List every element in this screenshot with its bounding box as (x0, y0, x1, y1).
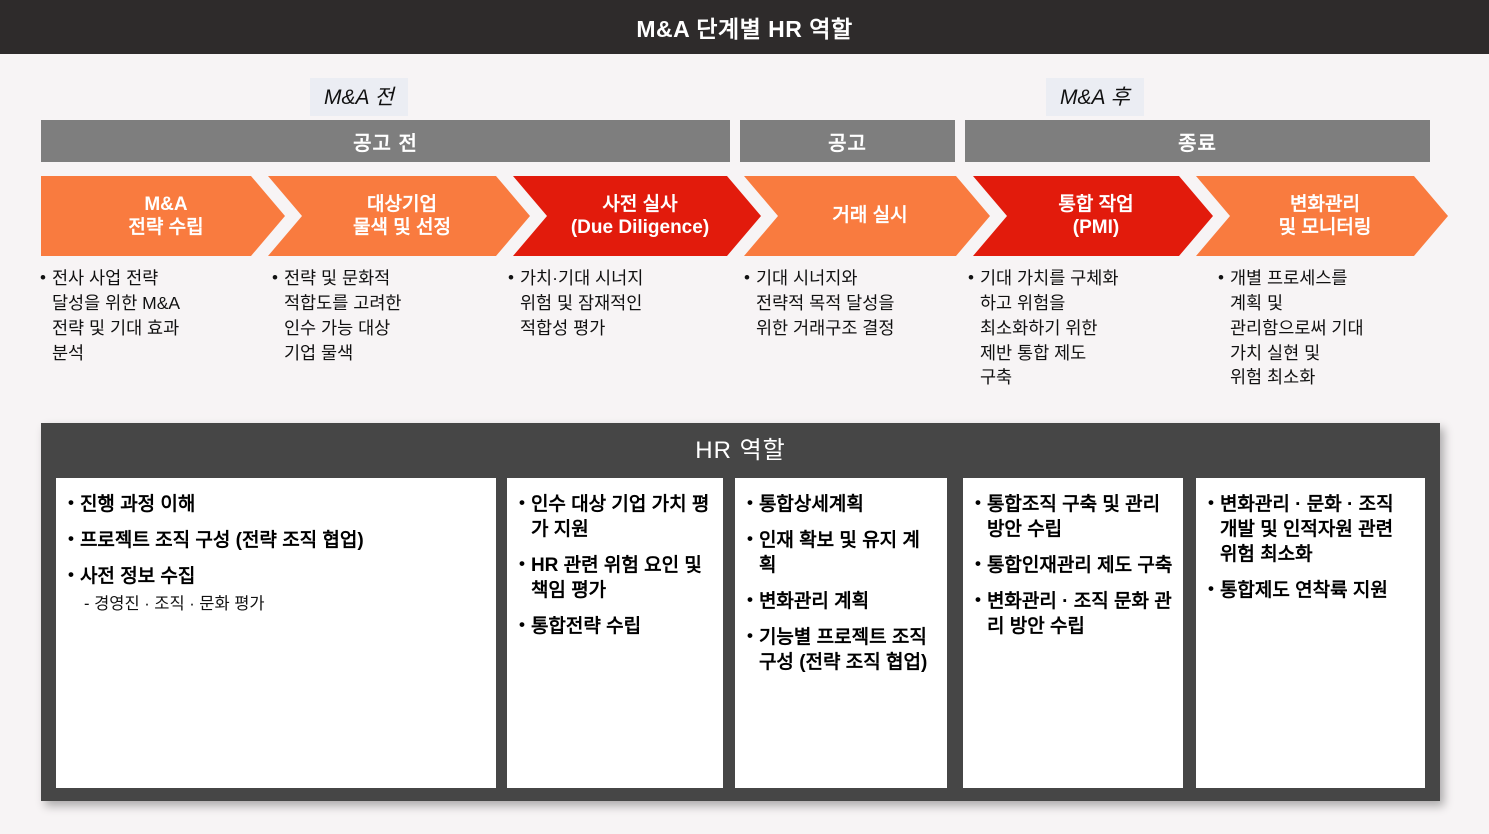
stage-description-1: •전략 및 문화적 적합도를 고려한 인수 가능 대상 기업 물색 (272, 266, 504, 365)
stage-chevron-label: 거래 실시 (826, 204, 907, 227)
stage-chevron-label: 대상기업 물색 및 선정 (347, 193, 451, 239)
hr-role-card-1: •인수 대상 기업 가치 평가 지원•HR 관련 위험 요인 및 책임 평가•통… (507, 478, 723, 788)
hr-role-item: •통합조직 구축 및 관리방안 수립 (975, 492, 1173, 542)
hr-role-item: •기능별 프로젝트 조직 구성 (전략 조직 협업) (747, 625, 937, 675)
hr-role-text: 인수 대상 기업 가치 평가 지원 (531, 492, 713, 542)
hr-role-text: 통합전략 수립 (531, 614, 713, 639)
bullet-dot-icon: • (975, 492, 981, 514)
hr-role-text: 통합상세계획 (759, 492, 937, 517)
bullet-dot-icon: • (68, 492, 74, 514)
stage-description-3: •기대 시너지와 전략적 목적 달성을 위한 거래구조 결정 (744, 266, 966, 341)
phase-bar-label: 공고 (828, 127, 867, 156)
hr-role-card-4: •변화관리 · 문화 · 조직 개발 및 인적자원 관련 위험 최소화•통합제도… (1196, 478, 1425, 788)
hr-role-card-0: •진행 과정 이해•프로젝트 조직 구성 (전략 조직 협업)•사전 정보 수집… (56, 478, 496, 788)
stage-chevron-3[interactable]: 거래 실시 (744, 176, 990, 256)
bullet-dot-icon: • (747, 528, 753, 550)
description-bullet: •기대 시너지와 전략적 목적 달성을 위한 거래구조 결정 (744, 266, 966, 341)
hr-role-subitem: - 경영진 · 조직 · 문화 평가 (84, 594, 486, 615)
hr-role-item: •진행 과정 이해 (68, 492, 486, 517)
bullet-dot-icon: • (968, 266, 974, 290)
stage-chevron-label: 사전 실사 (Due Diligence) (565, 193, 709, 239)
hr-role-text: 변화관리 계획 (759, 589, 937, 614)
hr-role-item: •인재 확보 및 유지 계획 (747, 528, 937, 578)
hr-role-text: 진행 과정 이해 (80, 492, 486, 517)
stage-chevron-1[interactable]: 대상기업 물색 및 선정 (268, 176, 530, 256)
hr-role-text: 프로젝트 조직 구성 (전략 조직 협업) (80, 528, 486, 553)
description-text: 가치·기대 시너지 위험 및 잠재적인 적합성 평가 (520, 266, 730, 341)
page-title: M&A 단계별 HR 역할 (636, 10, 852, 44)
hr-role-item: •통합제도 연착륙 지원 (1208, 578, 1415, 603)
hr-role-text: 기능별 프로젝트 조직 구성 (전략 조직 협업) (759, 625, 937, 675)
hr-role-text: 통합제도 연착륙 지원 (1220, 578, 1415, 603)
stage-description-2: •가치·기대 시너지 위험 및 잠재적인 적합성 평가 (508, 266, 730, 341)
description-bullet: •개별 프로세스를 계획 및 관리함으로써 기대 가치 실현 및 위험 최소화 (1218, 266, 1448, 390)
bullet-dot-icon: • (1208, 492, 1214, 514)
hr-role-item: •인수 대상 기업 가치 평가 지원 (519, 492, 713, 542)
stage-chevron-row: M&A 전략 수립대상기업 물색 및 선정사전 실사 (Due Diligenc… (0, 176, 1489, 256)
description-text: 기대 가치를 구체화 하고 위험을 최소화하기 위한 제반 통합 제도 구축 (980, 266, 1200, 390)
bullet-dot-icon: • (519, 553, 525, 575)
stage-chevron-label: M&A 전략 수립 (122, 193, 203, 239)
description-bullet: •전략 및 문화적 적합도를 고려한 인수 가능 대상 기업 물색 (272, 266, 504, 365)
stage-chevron-label: 통합 작업 (PMI) (1052, 193, 1133, 239)
bullet-dot-icon: • (68, 528, 74, 550)
hr-role-item: •사전 정보 수집 (68, 564, 486, 589)
hr-role-item: •통합전략 수립 (519, 614, 713, 639)
bullet-dot-icon: • (40, 266, 46, 290)
bullet-dot-icon: • (975, 589, 981, 611)
hr-role-text: 통합인재관리 제도 구축 (987, 553, 1173, 578)
stage-chevron-4[interactable]: 통합 작업 (PMI) (973, 176, 1213, 256)
phase-bar-0: 공고 전 (41, 120, 730, 162)
description-bullet: •기대 가치를 구체화 하고 위험을 최소화하기 위한 제반 통합 제도 구축 (968, 266, 1200, 390)
hr-role-card-3: •통합조직 구축 및 관리방안 수립•통합인재관리 제도 구축•변화관리 · 조… (963, 478, 1183, 788)
description-bullet: •가치·기대 시너지 위험 및 잠재적인 적합성 평가 (508, 266, 730, 341)
bullet-dot-icon: • (747, 589, 753, 611)
description-bullet: •전사 사업 전략 달성을 위한 M&A 전략 및 기대 효과 분석 (40, 266, 268, 365)
stage-description-row: •전사 사업 전략 달성을 위한 M&A 전략 및 기대 효과 분석•전략 및 … (0, 266, 1489, 416)
bullet-dot-icon: • (747, 492, 753, 514)
hr-role-item: •HR 관련 위험 요인 및 책임 평가 (519, 553, 713, 603)
hr-role-item: •변화관리 · 조직 문화 관리 방안 수립 (975, 589, 1173, 639)
hr-role-text: 사전 정보 수집 (80, 564, 486, 589)
hr-role-text: 변화관리 · 문화 · 조직 개발 및 인적자원 관련 위험 최소화 (1220, 492, 1415, 567)
phase-bar-1: 공고 (740, 120, 955, 162)
hr-roles-panel: HR 역할 •진행 과정 이해•프로젝트 조직 구성 (전략 조직 협업)•사전… (41, 423, 1440, 801)
hr-role-text: 변화관리 · 조직 문화 관리 방안 수립 (987, 589, 1173, 639)
description-text: 전사 사업 전략 달성을 위한 M&A 전략 및 기대 효과 분석 (52, 266, 268, 365)
stage-chevron-0[interactable]: M&A 전략 수립 (41, 176, 285, 256)
bullet-dot-icon: • (975, 553, 981, 575)
bullet-dot-icon: • (519, 614, 525, 636)
hr-role-text: HR 관련 위험 요인 및 책임 평가 (531, 553, 713, 603)
bullet-dot-icon: • (519, 492, 525, 514)
description-text: 기대 시너지와 전략적 목적 달성을 위한 거래구조 결정 (756, 266, 966, 341)
page-title-bar: M&A 단계별 HR 역할 (0, 0, 1489, 54)
bullet-dot-icon: • (1218, 266, 1224, 290)
stage-description-0: •전사 사업 전략 달성을 위한 M&A 전략 및 기대 효과 분석 (40, 266, 268, 365)
hr-role-text: 인재 확보 및 유지 계획 (759, 528, 937, 578)
hr-role-item: •변화관리 계획 (747, 589, 937, 614)
hr-role-item: •통합상세계획 (747, 492, 937, 517)
description-text: 전략 및 문화적 적합도를 고려한 인수 가능 대상 기업 물색 (284, 266, 504, 365)
stage-chevron-5[interactable]: 변화관리 및 모니터링 (1196, 176, 1448, 256)
era-label-before: M&A 전 (310, 78, 408, 116)
stage-chevron-label: 변화관리 및 모니터링 (1273, 193, 1372, 239)
stage-chevron-2[interactable]: 사전 실사 (Due Diligence) (513, 176, 761, 256)
bullet-dot-icon: • (508, 266, 514, 290)
hr-role-item: •프로젝트 조직 구성 (전략 조직 협업) (68, 528, 486, 553)
stage-description-4: •기대 가치를 구체화 하고 위험을 최소화하기 위한 제반 통합 제도 구축 (968, 266, 1200, 390)
phase-bar-label: 공고 전 (353, 127, 418, 156)
phase-bar-label: 종료 (1178, 127, 1217, 156)
description-text: 개별 프로세스를 계획 및 관리함으로써 기대 가치 실현 및 위험 최소화 (1230, 266, 1448, 390)
hr-role-card-2: •통합상세계획•인재 확보 및 유지 계획•변화관리 계획•기능별 프로젝트 조… (735, 478, 947, 788)
bullet-dot-icon: • (747, 625, 753, 647)
hr-role-item: •변화관리 · 문화 · 조직 개발 및 인적자원 관련 위험 최소화 (1208, 492, 1415, 567)
hr-role-item: •통합인재관리 제도 구축 (975, 553, 1173, 578)
bullet-dot-icon: • (744, 266, 750, 290)
stage-description-5: •개별 프로세스를 계획 및 관리함으로써 기대 가치 실현 및 위험 최소화 (1218, 266, 1448, 390)
bullet-dot-icon: • (1208, 578, 1214, 600)
bullet-dot-icon: • (68, 564, 74, 586)
hr-roles-title: HR 역할 (41, 423, 1440, 471)
phase-bar-2: 종료 (965, 120, 1430, 162)
era-label-after: M&A 후 (1046, 78, 1144, 116)
bullet-dot-icon: • (272, 266, 278, 290)
hr-role-text: 통합조직 구축 및 관리방안 수립 (987, 492, 1173, 542)
